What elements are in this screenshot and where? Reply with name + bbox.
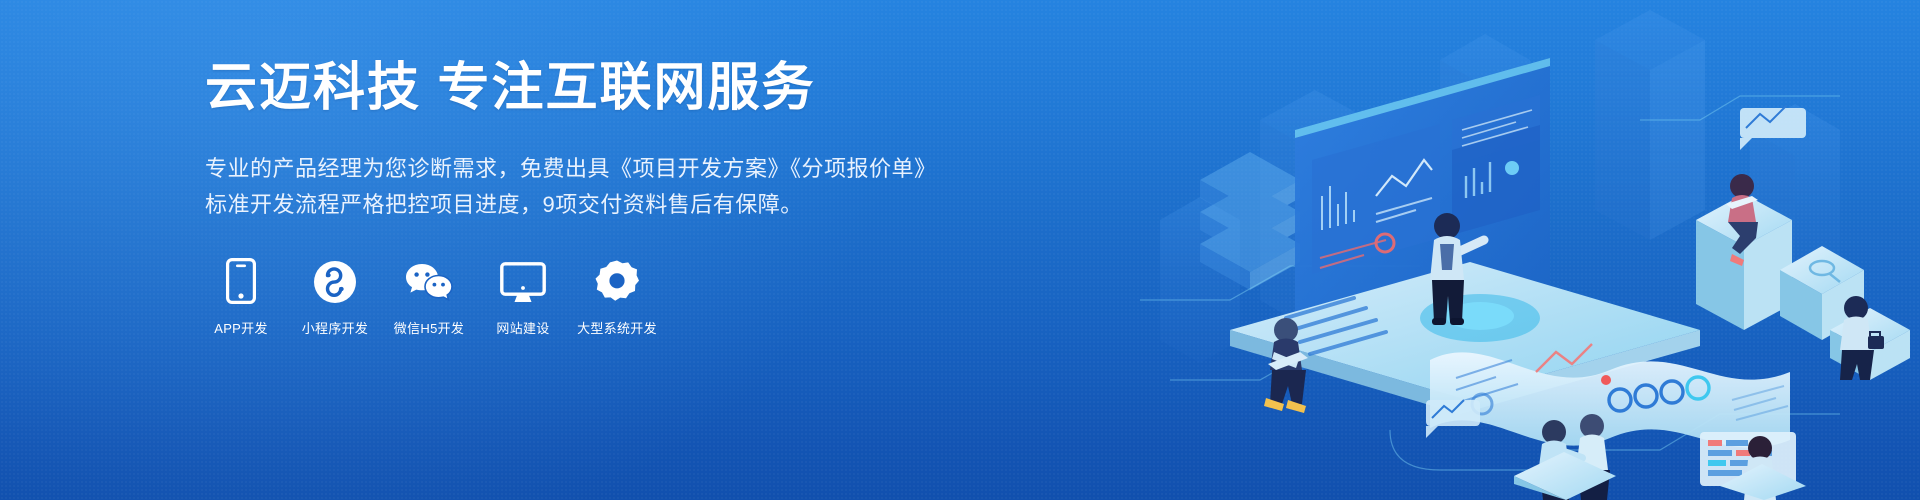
- mini-program-icon: [311, 256, 359, 304]
- wechat-icon: [405, 256, 453, 304]
- service-item-miniprogram[interactable]: 小程序开发: [299, 256, 371, 337]
- hero-text-block: 云迈科技 专注互联网服务 专业的产品经理为您诊断需求，免费出具《项目开发方案》《…: [205, 60, 905, 337]
- subtitle-line-2: 标准开发流程严格把控项目进度，9项交付资料售后有保障。: [205, 187, 905, 223]
- gear-icon: [593, 256, 641, 304]
- service-label-system: 大型系统开发: [577, 318, 657, 337]
- hero-subtitle: 专业的产品经理为您诊断需求，免费出具《项目开发方案》《分项报价单》 标准开发流程…: [205, 151, 905, 222]
- illustration-isometric-scene: [1140, 0, 1920, 500]
- service-item-wechat[interactable]: 微信H5开发: [393, 256, 465, 337]
- service-label-website: 网站建设: [496, 318, 549, 337]
- mobile-phone-icon: [217, 256, 265, 304]
- page-title: 云迈科技 专注互联网服务: [205, 60, 905, 117]
- hero-banner: 云迈科技 专注互联网服务 专业的产品经理为您诊断需求，免费出具《项目开发方案》《…: [0, 0, 1920, 500]
- service-label-miniprogram: 小程序开发: [302, 318, 369, 337]
- service-item-system[interactable]: 大型系统开发: [581, 256, 653, 337]
- subtitle-line-1: 专业的产品经理为您诊断需求，免费出具《项目开发方案》《分项报价单》: [205, 151, 905, 187]
- service-item-website[interactable]: 网站建设: [487, 256, 559, 337]
- service-item-app[interactable]: APP开发: [205, 256, 277, 337]
- service-label-wechat: 微信H5开发: [394, 318, 464, 337]
- service-list: APP开发 小程序开发: [205, 256, 905, 337]
- monitor-icon: [499, 256, 547, 304]
- service-label-app: APP开发: [214, 318, 268, 337]
